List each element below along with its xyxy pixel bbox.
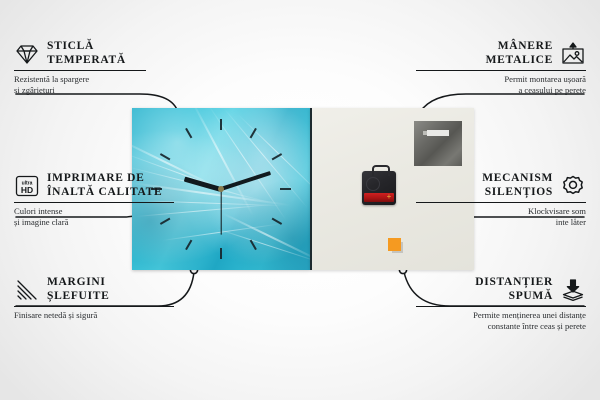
callout-title: DISTANȚIER SPUMĂ <box>475 276 553 303</box>
callout-title: MECANISM SILENȚIOS <box>482 172 553 199</box>
callout-divider <box>14 202 174 203</box>
hanger-slot <box>427 130 449 136</box>
battery-plus-mark: + <box>386 194 392 200</box>
callout-subtitle: Finisare netedă și sigură <box>14 310 184 321</box>
diamond-icon <box>14 42 40 66</box>
callout-title: MARGINI ȘLEFUITE <box>47 276 109 303</box>
metal-hanger-plate <box>414 121 462 166</box>
callout-divider <box>14 70 146 71</box>
callout-title: STICLĂ TEMPERATĂ <box>47 40 126 67</box>
callout-print: ultra HD IMPRIMARE DE ÎNALTĂ CALITATE Cu… <box>14 172 184 227</box>
svg-text:HD: HD <box>21 185 33 195</box>
callout-mechanism: MECANISM SILENȚIOS Klockvisare som inte … <box>416 172 586 227</box>
callout-subtitle: Klockvisare som inte låter <box>416 206 586 227</box>
callout-subtitle: Culori intense și imagine clară <box>14 206 184 227</box>
callout-title: MÂNERE METALICE <box>486 40 553 67</box>
clock-tick <box>220 119 222 130</box>
picture-hanger-icon <box>560 42 586 66</box>
clock-second-hand <box>220 189 221 235</box>
callout-handles: MÂNERE METALICE Permit montarea ușoară a… <box>416 40 586 95</box>
clock-tick <box>220 248 222 259</box>
polished-edge-icon <box>14 278 40 302</box>
callout-glass: STICLĂ TEMPERATĂ Rezistentă la spargere … <box>14 40 184 95</box>
infographic-canvas: + STICLĂ TEMPERATĂ Rezistentă la sparger… <box>0 0 600 400</box>
foam-spacer-pad <box>388 238 401 251</box>
movement-hanger-loop <box>372 165 390 176</box>
clock-hand-hub <box>218 186 224 192</box>
ultra-hd-icon: ultra HD <box>14 174 40 198</box>
callout-spacer: DISTANȚIER SPUMĂ Permite menținerea unei… <box>416 276 586 331</box>
callout-divider <box>416 202 586 203</box>
callout-subtitle: Permit montarea ușoară a ceasului pe per… <box>416 74 586 95</box>
clock-tick <box>280 188 291 190</box>
callout-subtitle: Rezistentă la spargere și zgârieturi <box>14 74 184 95</box>
callout-divider <box>416 306 586 307</box>
callout-title: IMPRIMARE DE ÎNALTĂ CALITATE <box>47 172 162 199</box>
quartz-movement: + <box>362 171 396 205</box>
callout-divider <box>14 306 174 307</box>
callout-subtitle: Permite menținerea unei distanțe constan… <box>416 310 586 331</box>
callout-edges: MARGINI ȘLEFUITE Finisare netedă și sigu… <box>14 276 184 321</box>
movement-dial <box>366 177 380 191</box>
battery: + <box>364 193 394 202</box>
gear-icon <box>560 174 586 198</box>
callout-divider <box>416 70 586 71</box>
foam-spacer-icon <box>560 278 586 302</box>
